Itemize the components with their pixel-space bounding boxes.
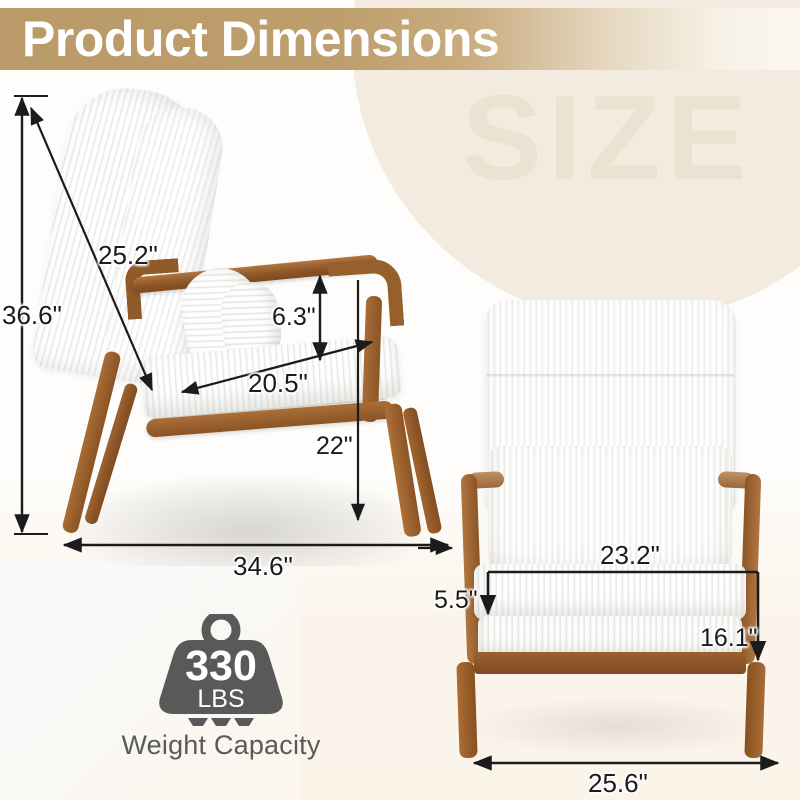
page-title: Product Dimensions (22, 12, 499, 66)
chair-front-apron-rail (474, 652, 746, 674)
weight-capacity-block: 330 LBS Weight Capacity (96, 614, 346, 784)
chair-front-backrest-lower (488, 446, 732, 582)
chair-side-view-illustration (34, 84, 454, 554)
chair-front-leg-left (456, 662, 477, 759)
chair-front-view-illustration (452, 296, 782, 766)
chair-front-seat-cushion-top (474, 564, 746, 620)
weight-unit-text: LBS (197, 685, 244, 713)
chair-front-backrest-seam (486, 374, 734, 378)
chair-side-shadow (74, 476, 424, 566)
size-watermark-text: SIZE (462, 78, 753, 198)
chair-front-leg-right (744, 662, 765, 759)
weight-icon: 330 LBS (96, 614, 346, 722)
chair-front-shadow (462, 696, 772, 756)
product-dimensions-infographic: SIZE Product Dimensions (0, 0, 800, 800)
weight-amount-text: 330 (185, 642, 257, 690)
weight-capacity-caption: Weight Capacity (96, 730, 346, 761)
